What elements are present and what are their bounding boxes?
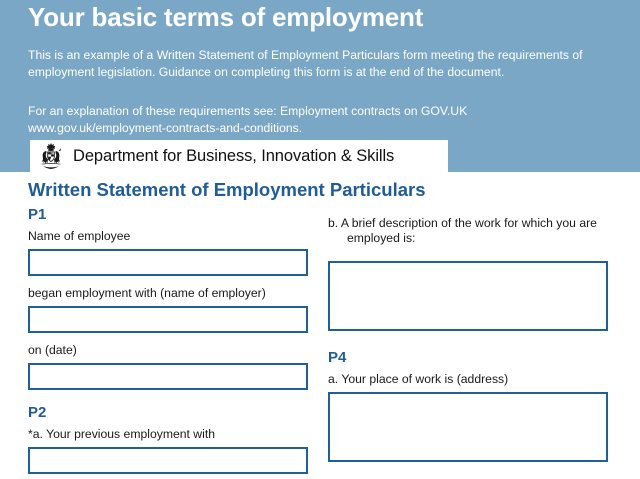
intro-paragraph-2: For an explanation of these requirements…: [28, 103, 588, 136]
intro-paragraph-1: This is an example of a Written Statemen…: [28, 47, 588, 80]
page-title: Your basic terms of employment: [28, 2, 423, 33]
input-name-of-employee[interactable]: [28, 249, 308, 276]
input-on-date[interactable]: [28, 363, 308, 390]
input-began-employment-with[interactable]: [28, 306, 308, 333]
heading-p1: P1: [28, 206, 310, 223]
document-page: Your basic terms of employment This is a…: [0, 0, 640, 479]
label-began-employment-with: began employment with (name of employer): [28, 286, 310, 301]
spacer: [328, 331, 610, 349]
label-name-of-employee: Name of employee: [28, 229, 310, 244]
spacer: [28, 390, 310, 404]
input-previous-employment-with[interactable]: [28, 447, 308, 474]
form-column-left: P1 Name of employee began employment wit…: [28, 206, 310, 474]
form-area: Written Statement of Employment Particul…: [0, 172, 640, 479]
label-previous-employment-with: *a. Your previous employment with: [28, 427, 310, 442]
label-place-of-work: a. Your place of work is (address): [328, 372, 610, 387]
spacer: [28, 333, 310, 343]
spacer: [28, 276, 310, 286]
input-place-of-work[interactable]: [328, 392, 608, 462]
royal-coat-of-arms-icon: [36, 142, 66, 170]
label-brief-description-of-work: b. A brief description of the work for w…: [328, 216, 610, 246]
document-header-band: Your basic terms of employment This is a…: [0, 0, 640, 172]
department-name-label: Department for Business, Innovation & Sk…: [73, 147, 394, 166]
input-brief-description-of-work[interactable]: [328, 261, 608, 331]
label-on-date: on (date): [28, 343, 310, 358]
heading-p2: P2: [28, 404, 310, 421]
spacer: [328, 251, 610, 261]
form-column-right: b. A brief description of the work for w…: [328, 216, 610, 462]
form-section-title: Written Statement of Employment Particul…: [28, 179, 426, 201]
heading-p4: P4: [328, 349, 610, 366]
department-logo: Department for Business, Innovation & Sk…: [30, 140, 448, 172]
